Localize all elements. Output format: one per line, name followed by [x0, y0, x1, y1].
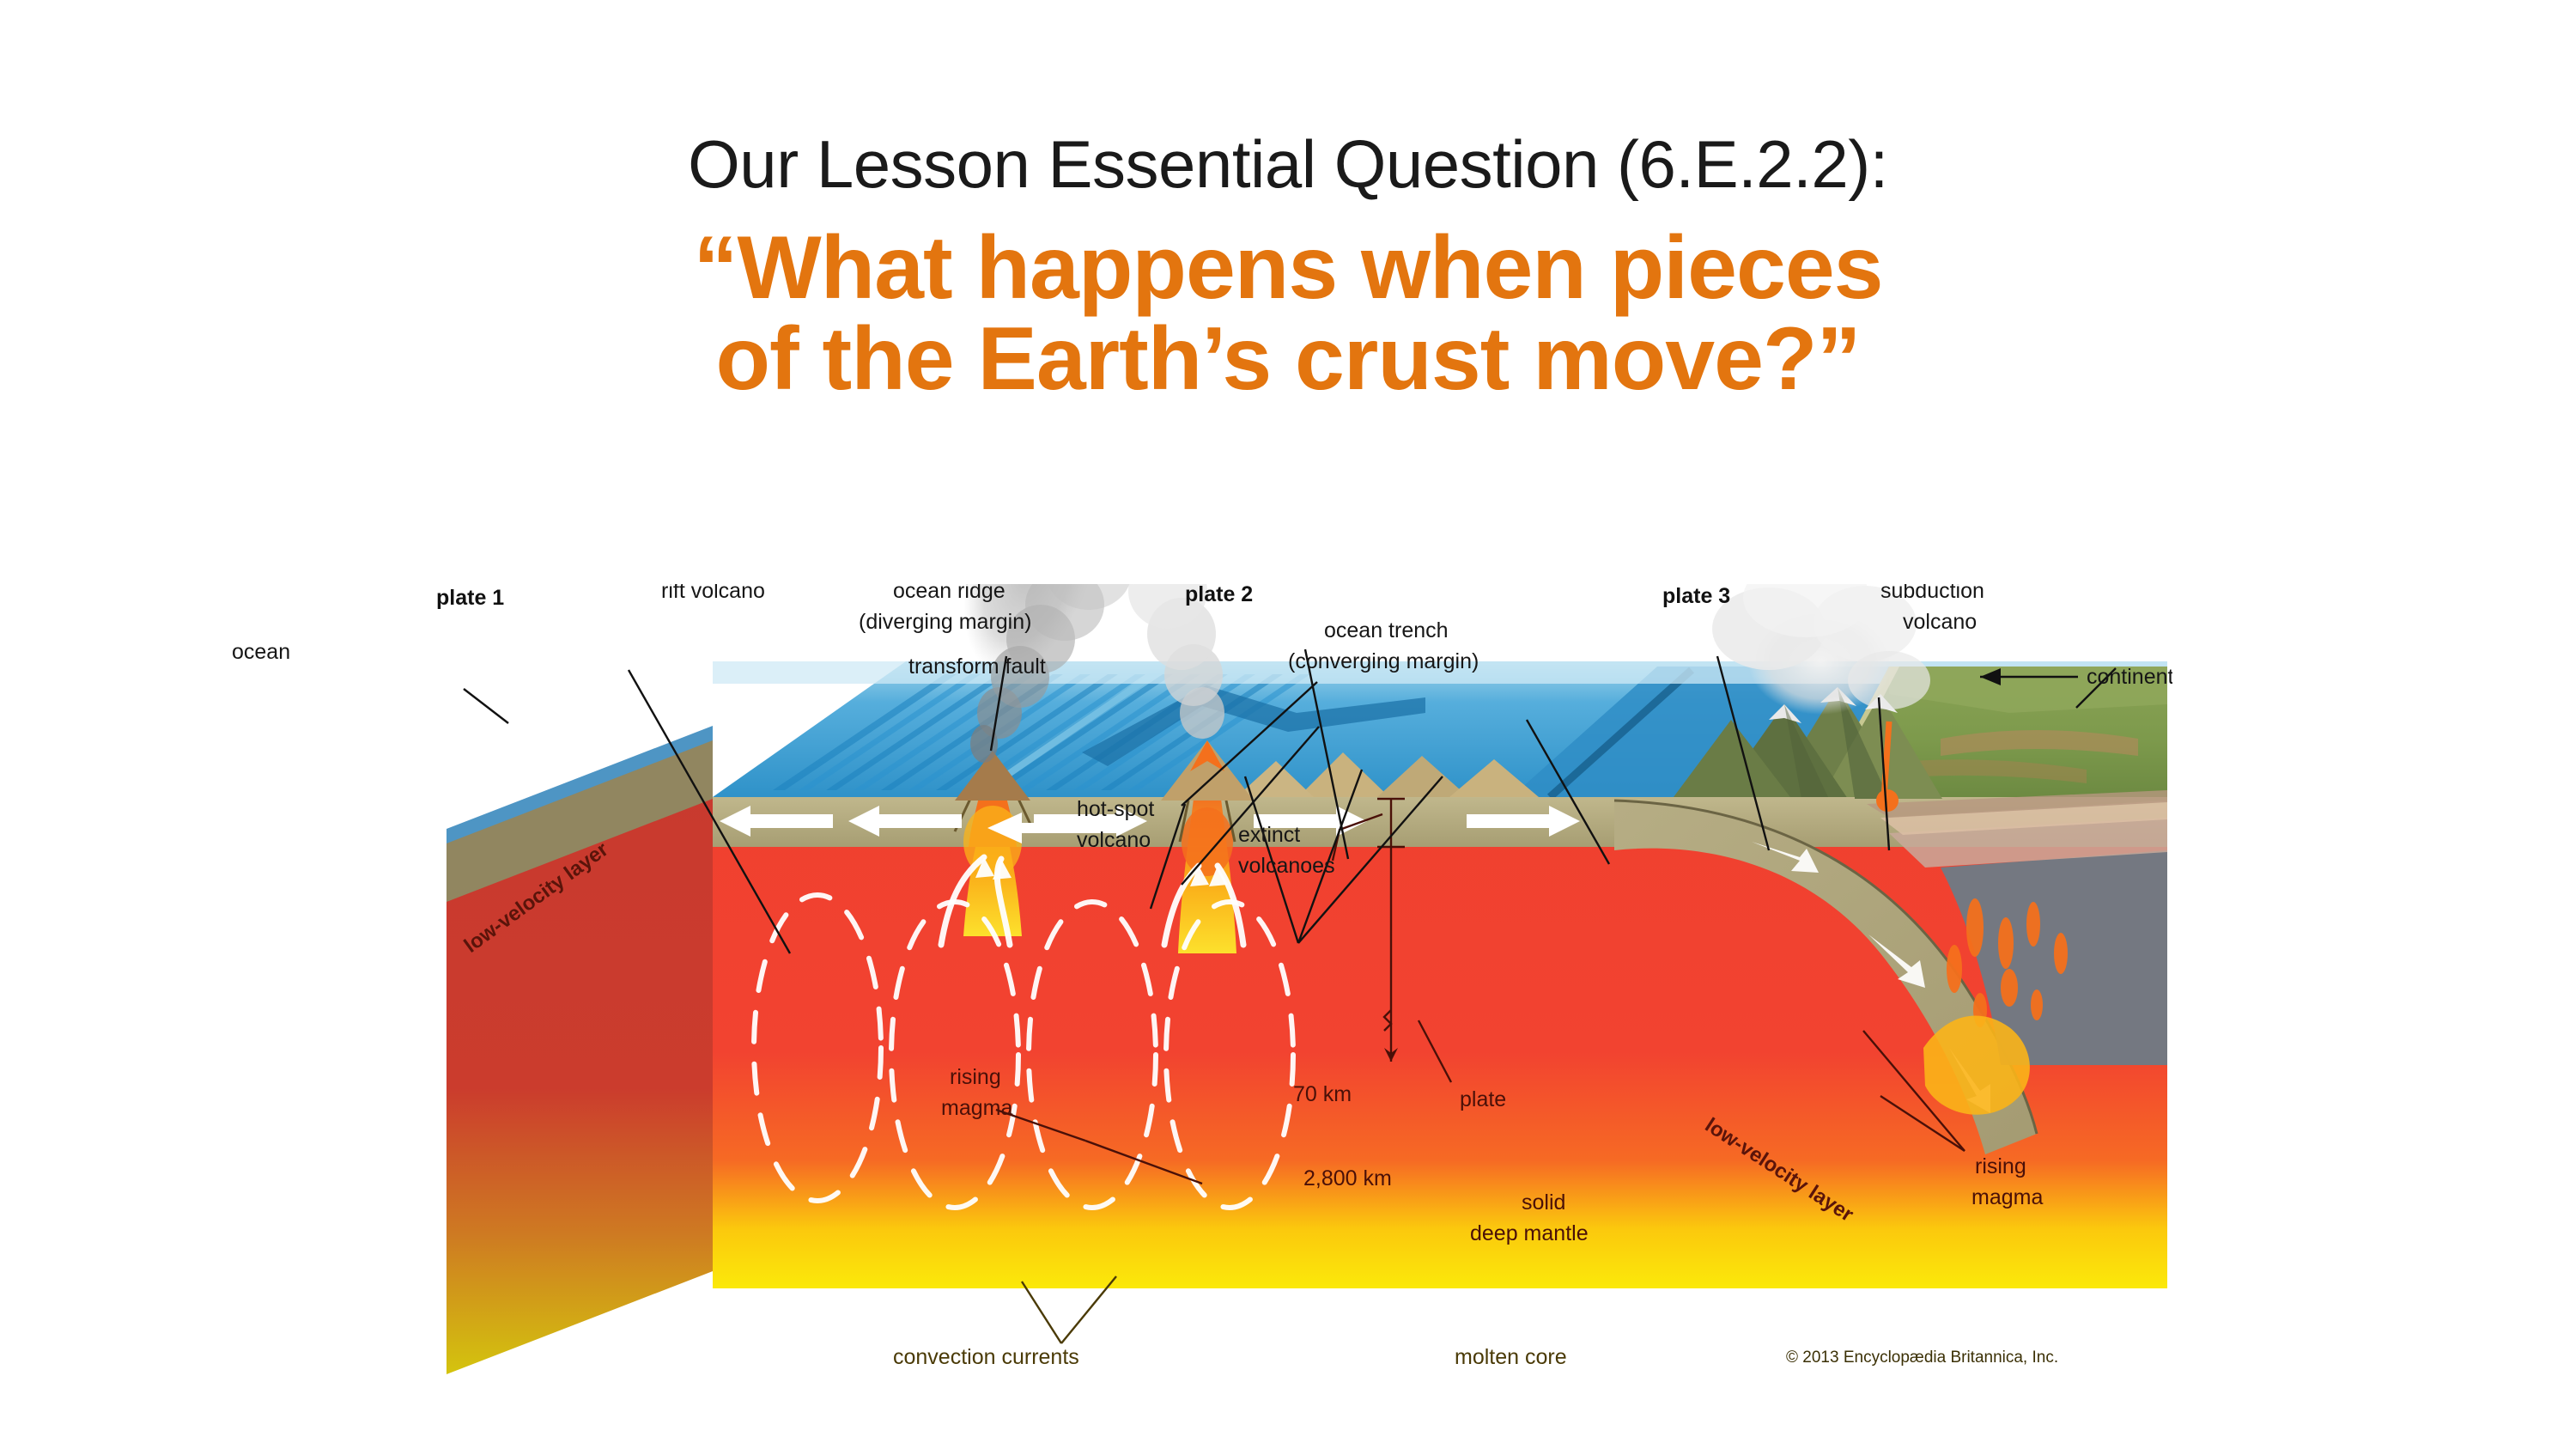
- label-rising-magma-right-line2: magma: [1971, 1185, 2043, 1209]
- label-transform-fault: transform fault: [908, 654, 1046, 679]
- slide-title-area: Our Lesson Essential Question (6.E.2.2):…: [0, 129, 2576, 405]
- label-solid-line2: deep mantle: [1470, 1221, 1589, 1245]
- label-ocean: ocean: [232, 640, 290, 664]
- label-diverging-margin: (diverging margin): [859, 610, 1031, 634]
- essential-question-prompt: Our Lesson Essential Question (6.E.2.2):: [0, 129, 2576, 200]
- label-plate: plate: [1460, 1087, 1506, 1111]
- label-convection-currents: convection currents: [893, 1345, 1079, 1369]
- label-hot-spot-volcano-line2: volcano: [1077, 828, 1151, 852]
- essential-question-line-2: of the Earth’s crust move?”: [0, 314, 2576, 405]
- label-extinct-volcanoes-line1: extinct: [1238, 823, 1300, 847]
- label-rising-magma-line2: magma: [941, 1096, 1012, 1120]
- essential-question-line-1: “What happens when pieces: [0, 222, 2576, 314]
- molten-core-band: [713, 1271, 2167, 1288]
- label-ocean-ridge: ocean ridge: [893, 584, 1005, 603]
- block-left-face: [447, 726, 713, 1374]
- label-depth-70km: 70 km: [1293, 1082, 1352, 1106]
- label-extinct-volcanoes-line2: volcanoes: [1238, 854, 1335, 878]
- label-subduction-volcano-line1: subduction: [1880, 584, 1984, 603]
- figure-credit: © 2013 Encyclopædia Britannica, Inc.: [1786, 1349, 2058, 1367]
- label-ocean-trench: ocean trench: [1324, 618, 1449, 642]
- label-ocean-wrap: ocean: [232, 640, 290, 665]
- label-depth-2800km: 2,800 km: [1303, 1166, 1392, 1190]
- label-plate-2: plate 2: [1185, 584, 1253, 606]
- label-solid-line1: solid: [1522, 1190, 1565, 1215]
- label-rising-magma-right-line1: rising: [1975, 1154, 2026, 1178]
- plate-tectonics-diagram: plate 1 rift volcano ocean ridge (diverg…: [429, 584, 2172, 1409]
- label-plate-3: plate 3: [1662, 584, 1730, 608]
- label-molten-core: molten core: [1455, 1345, 1567, 1369]
- label-converging-margin: (converging margin): [1288, 649, 1479, 673]
- label-continent: continent: [2087, 665, 2172, 689]
- label-subduction-volcano-line2: volcano: [1903, 610, 1977, 634]
- label-plate-1: plate 1: [436, 586, 504, 610]
- label-rising-magma-line1: rising: [950, 1065, 1001, 1089]
- label-rift-volcano: rift volcano: [661, 584, 765, 603]
- label-hot-spot-volcano-line1: hot-spot: [1077, 797, 1154, 821]
